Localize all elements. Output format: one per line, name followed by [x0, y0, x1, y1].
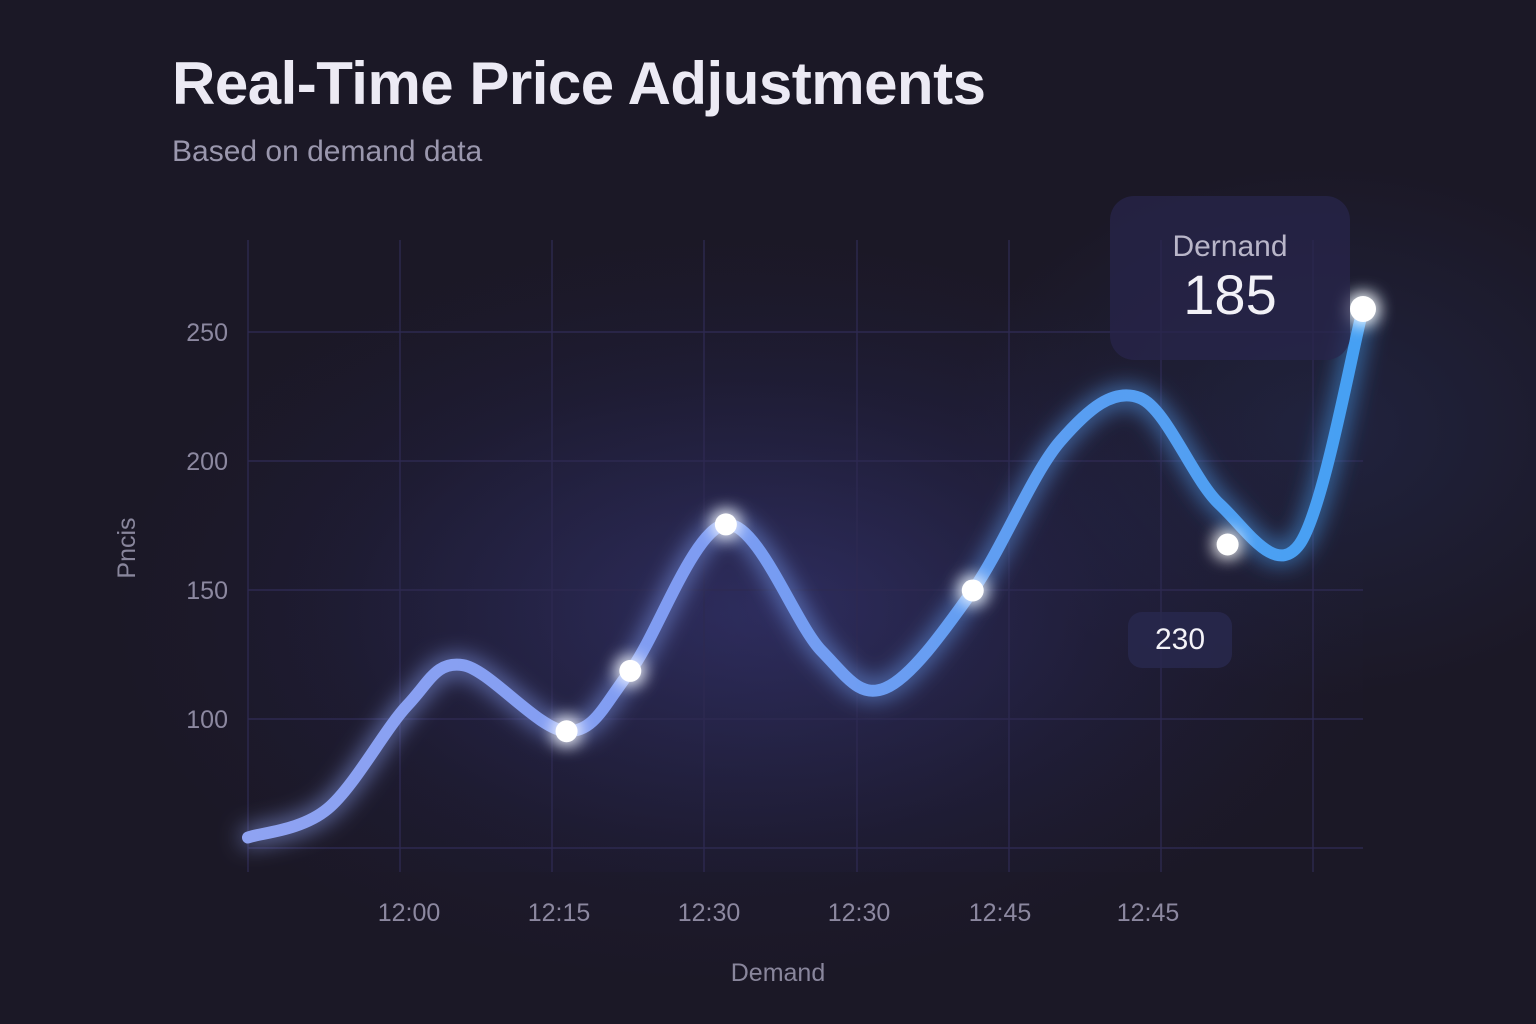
- x-tick-3: 12:30: [828, 899, 891, 927]
- x-tick-0: 12:00: [378, 899, 441, 927]
- x-tick-4: 12:45: [969, 899, 1032, 927]
- tooltip-label: Dernand: [1172, 232, 1287, 262]
- y-axis-tick-labels: 250 200 150 100: [186, 319, 228, 734]
- x-tick-5: 12:45: [1117, 899, 1180, 927]
- y-tick-100: 100: [186, 706, 228, 734]
- x-axis-title: Demand: [731, 959, 826, 987]
- value-badge-text: 230: [1155, 625, 1205, 655]
- data-point-marker[interactable]: [1217, 534, 1239, 556]
- data-point-marker[interactable]: [1350, 296, 1376, 322]
- y-tick-200: 200: [186, 448, 228, 476]
- y-tick-250: 250: [186, 319, 228, 347]
- data-point-marker[interactable]: [619, 660, 641, 682]
- y-axis-title: Pncis: [113, 517, 141, 578]
- data-point-marker[interactable]: [715, 513, 737, 535]
- x-axis-tick-labels: 12:00 12:15 12:30 12:30 12:45 12:45: [378, 899, 1180, 927]
- y-tick-150: 150: [186, 577, 228, 605]
- x-tick-2: 12:30: [678, 899, 741, 927]
- value-badge[interactable]: 230: [1128, 612, 1232, 668]
- tooltip-value: 185: [1183, 266, 1276, 325]
- data-point-marker[interactable]: [556, 720, 578, 742]
- data-point-marker[interactable]: [962, 579, 984, 601]
- tooltip-card[interactable]: Dernand 185: [1110, 196, 1350, 360]
- chart-canvas: Real-Time Price Adjustments Based on dem…: [0, 0, 1536, 1024]
- line-chart-svg: 250 200 150 100 Pncis 12:00 12:15 12:30 …: [0, 0, 1536, 1024]
- x-tick-1: 12:15: [528, 899, 591, 927]
